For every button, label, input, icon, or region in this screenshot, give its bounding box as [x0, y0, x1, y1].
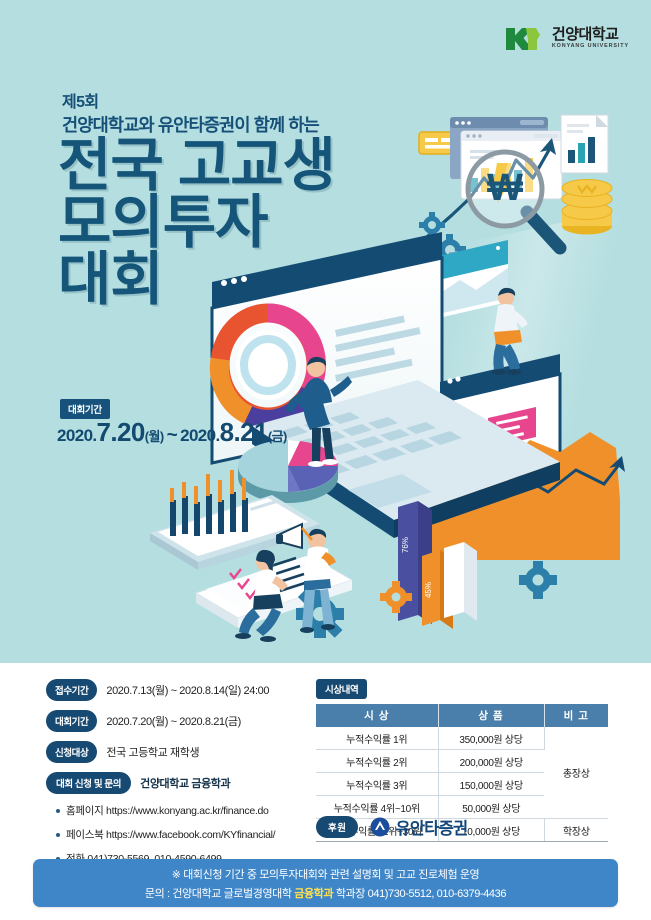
table-header-prize: 상 품 — [438, 704, 544, 727]
cell-prize: 150,000원 상당 — [438, 773, 544, 796]
contact-homepage[interactable]: 홈페이지 https://www.konyang.ac.kr/finance.d… — [66, 803, 269, 818]
detail-row: 접수기간 2020.7.13(월) ~ 2020.8.14(일) 24:00 — [46, 679, 308, 701]
svg-text:45%: 45% — [424, 582, 433, 598]
hero-title: 전국 고교생 모의투자 대회 — [58, 138, 335, 308]
period-end-day: (금) — [268, 429, 287, 444]
edition-label: 제5회 — [62, 88, 99, 112]
detail-value-application-period: 2020.7.13(월) ~ 2020.8.14(일) 24:00 — [106, 682, 269, 698]
university-logo: 건양대학교 KONYANG UNIVERSITY — [505, 26, 629, 50]
footer-banner: ※ 대회신청 기간 중 모의투자대회와 관련 설명회 및 고교 진로체험 운영 … — [33, 859, 618, 907]
hero-period-badge: 대회기간 — [60, 399, 110, 419]
cell-note-presidents-award: 총장상 — [544, 727, 608, 819]
contact-department: 건양대학교 금융학과 — [140, 775, 230, 791]
list-item[interactable]: 페이스북 https://www.facebook.com/KYfinancia… — [56, 827, 308, 842]
ky-logo-mark — [505, 26, 545, 50]
contact-list: 홈페이지 https://www.konyang.ac.kr/finance.d… — [56, 803, 308, 866]
hero-section: ₩ — [0, 0, 651, 663]
footer-line-2-post: 학과장 041)730-5512, 010-6379-4436 — [333, 888, 506, 900]
sponsor-logo: 유안타증권 — [370, 815, 467, 839]
university-name-en: KONYANG UNIVERSITY — [552, 44, 629, 49]
svg-text:₩: ₩ — [487, 167, 523, 209]
sponsor-name: 유안타증권 — [395, 815, 467, 839]
hero-title-line-1: 전국 고교생 — [58, 138, 335, 195]
detail-label-application-period: 접수기간 — [46, 679, 97, 701]
detail-value-contest-period: 2020.7.20(월) ~ 2020.8.21(금) — [106, 713, 241, 729]
footer-line-2: 문의 : 건양대학교 글로벌경영대학 금융학과 학과장 041)730-5512… — [145, 885, 506, 901]
sponsor-label: 후원 — [316, 816, 358, 838]
detail-label-contest-period: 대회기간 — [46, 710, 97, 732]
cell-note-deans-award: 학장상 — [544, 819, 608, 842]
period-end-year: 2020. — [180, 426, 220, 445]
hero-title-line-3: 대회 — [58, 252, 335, 309]
gear-icon-right — [519, 561, 557, 599]
bullet-dot-icon — [56, 809, 60, 813]
table-row: 누적수익률 1위 350,000원 상당 총장상 — [316, 727, 608, 750]
footer-line-2-pre: 문의 : 건양대학교 글로벌경영대학 — [145, 888, 294, 900]
period-start-year: 2020. — [57, 426, 97, 445]
detail-row: 신청대상 전국 고등학교 재학생 — [46, 741, 308, 763]
contact-label: 대회 신청 및 문의 — [46, 772, 131, 794]
list-item[interactable]: 홈페이지 https://www.konyang.ac.kr/finance.d… — [56, 803, 308, 818]
details-column: 접수기간 2020.7.13(월) ~ 2020.8.14(일) 24:00 대… — [46, 679, 308, 875]
bullet-dot-icon — [56, 833, 60, 837]
period-start-date: 7.20 — [97, 417, 145, 447]
info-section: 접수기간 2020.7.13(월) ~ 2020.8.14(일) 24:00 대… — [0, 663, 651, 920]
detail-row: 대회기간 2020.7.20(월) ~ 2020.8.21(금) — [46, 710, 308, 732]
cell-prize: 200,000원 상당 — [438, 750, 544, 773]
poster-root: ₩ — [0, 0, 651, 920]
detail-label-eligibility: 신청대상 — [46, 741, 97, 763]
table-header-award: 시 상 — [316, 704, 438, 727]
footer-line-2-highlight: 금융학과 — [294, 888, 333, 900]
cell-award: 누적수익률 2위 — [316, 750, 438, 773]
university-name-ko: 건양대학교 — [552, 27, 629, 42]
coin-stack — [562, 180, 612, 235]
cell-prize: 350,000원 상당 — [438, 727, 544, 750]
cell-award: 누적수익률 1위 — [316, 727, 438, 750]
period-separator: ~ — [164, 425, 181, 446]
pie-chart-3d — [238, 440, 338, 503]
contact-header-row: 대회 신청 및 문의 건양대학교 금융학과 — [46, 772, 308, 794]
hero-title-line-2: 모의투자 — [58, 195, 335, 252]
table-header-row: 시 상 상 품 비 고 — [316, 704, 608, 727]
sponsor-block: 후원 유안타증권 — [316, 815, 467, 839]
prize-table-label: 시상내역 — [316, 679, 367, 699]
cell-award: 누적수익률 3위 — [316, 773, 438, 796]
table-header-note: 비 고 — [544, 704, 608, 727]
detail-value-eligibility: 전국 고등학교 재학생 — [106, 744, 199, 760]
yuanta-triangle-icon — [370, 817, 390, 837]
footer-line-1: ※ 대회신청 기간 중 모의투자대회와 관련 설명회 및 고교 진로체험 운영 — [172, 866, 480, 882]
svg-text:76%: 76% — [401, 537, 410, 553]
hero-period-value: 2020.7.20(월)~2020.8.21(금) — [57, 417, 287, 448]
contact-facebook[interactable]: 페이스북 https://www.facebook.com/KYfinancia… — [66, 827, 275, 842]
period-start-day: (월) — [145, 429, 164, 444]
period-end-date: 8.21 — [220, 417, 268, 447]
